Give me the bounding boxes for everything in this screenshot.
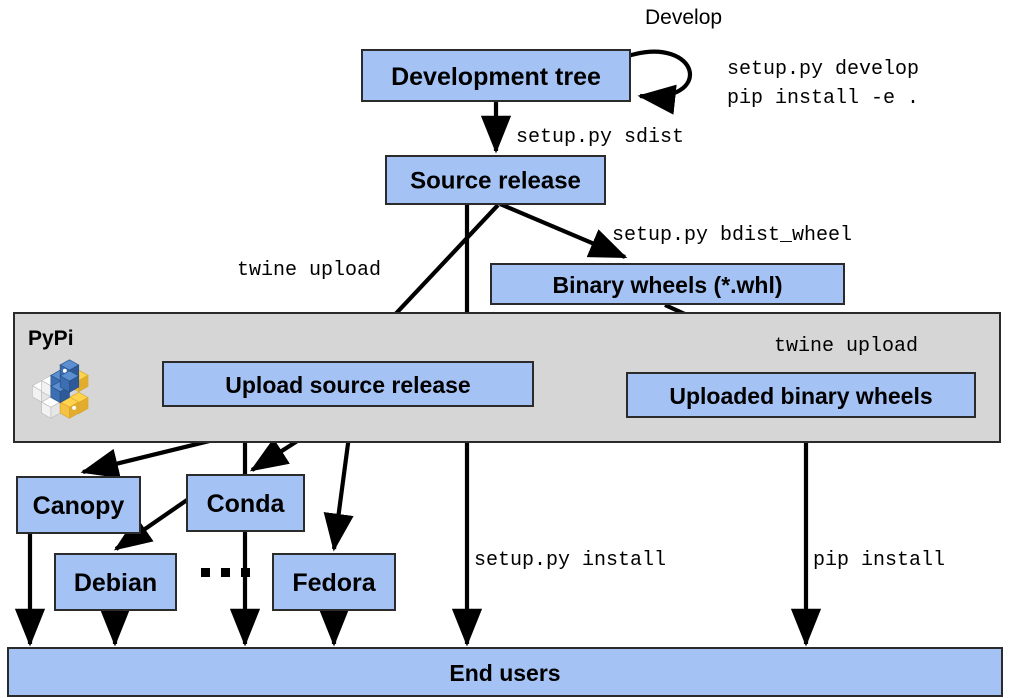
edge-label-pip-install-e: pip install -e . — [727, 87, 919, 110]
edge-label-twine-upload-source: twine upload — [237, 259, 381, 282]
diagram-canvas: PyPi — [0, 0, 1009, 698]
edge-label-pip-install: pip install — [813, 549, 945, 572]
edge-labels-layer: Develop setup.py develop pip install -e … — [0, 0, 1009, 698]
edge-label-setup-develop: setup.py develop — [727, 58, 919, 81]
edge-label-twine-upload-wheels: twine upload — [774, 335, 918, 358]
edge-label-setup-sdist: setup.py sdist — [516, 126, 684, 149]
edge-label-setup-install: setup.py install — [474, 549, 666, 572]
edge-label-develop: Develop — [645, 6, 722, 29]
edge-label-setup-bdist-wheel: setup.py bdist_wheel — [612, 224, 852, 247]
